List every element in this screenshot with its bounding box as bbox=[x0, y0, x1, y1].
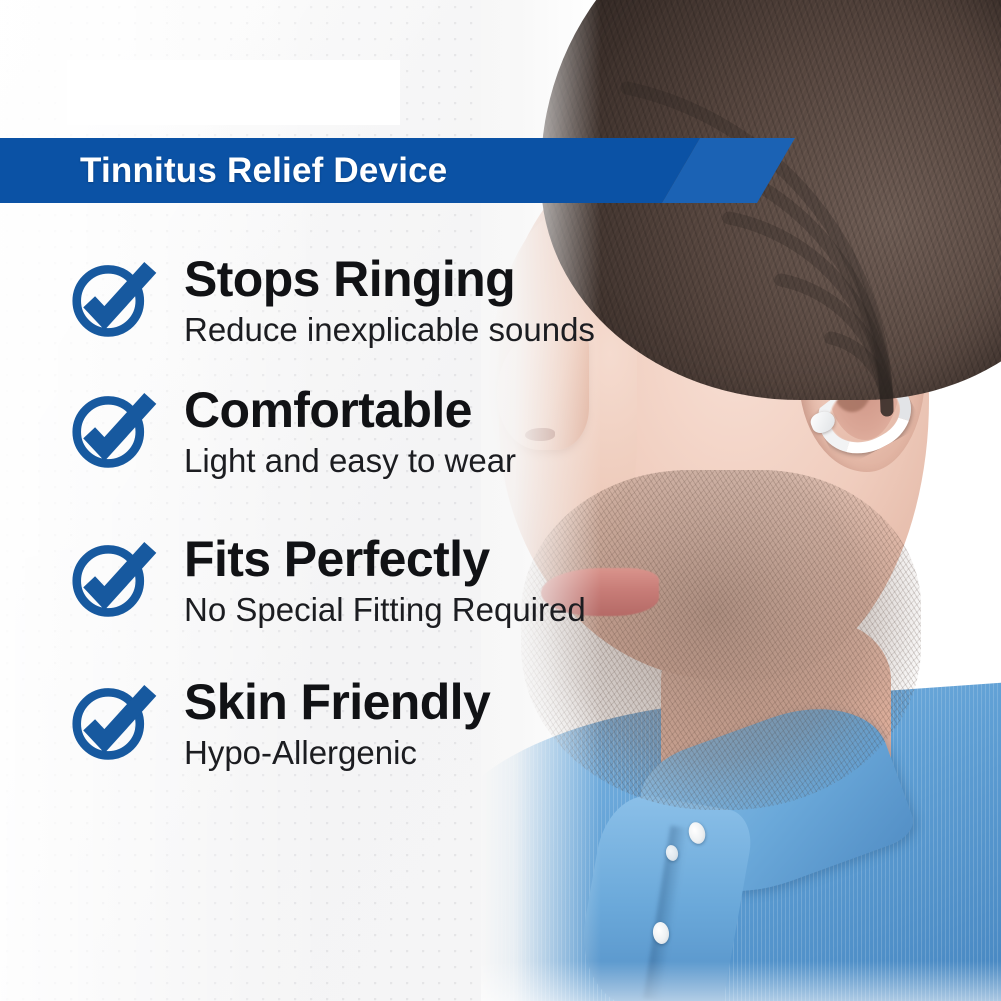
feature-item: Stops Ringing Reduce inexplicable sounds bbox=[0, 252, 700, 349]
feature-text: Comfortable Light and easy to wear bbox=[162, 383, 516, 480]
feature-item: Comfortable Light and easy to wear bbox=[0, 383, 700, 480]
feature-list: Stops Ringing Reduce inexplicable sounds… bbox=[0, 252, 700, 798]
logo-placeholder bbox=[67, 60, 400, 125]
check-circle-icon bbox=[66, 679, 162, 765]
feature-title: Stops Ringing bbox=[184, 254, 595, 304]
feature-subtitle: No Special Fitting Required bbox=[184, 592, 586, 629]
check-circle-icon bbox=[66, 387, 162, 473]
product-infographic: Tinnitus Relief Device Stops Ringing Red… bbox=[0, 0, 1001, 1001]
feature-title: Fits Perfectly bbox=[184, 534, 586, 584]
feature-title: Comfortable bbox=[184, 385, 516, 435]
feature-text: Fits Perfectly No Special Fitting Requir… bbox=[162, 532, 586, 629]
check-circle-icon bbox=[66, 536, 162, 622]
feature-text: Stops Ringing Reduce inexplicable sounds bbox=[162, 252, 595, 349]
feature-title: Skin Friendly bbox=[184, 677, 490, 727]
feature-subtitle: Hypo-Allergenic bbox=[184, 735, 490, 772]
feature-item: Fits Perfectly No Special Fitting Requir… bbox=[0, 532, 700, 629]
check-circle-icon bbox=[66, 256, 162, 342]
photo-bottom-blend bbox=[481, 961, 1001, 1001]
feature-text: Skin Friendly Hypo-Allergenic bbox=[162, 675, 490, 772]
feature-item: Skin Friendly Hypo-Allergenic bbox=[0, 675, 700, 772]
feature-subtitle: Light and easy to wear bbox=[184, 443, 516, 480]
feature-subtitle: Reduce inexplicable sounds bbox=[184, 312, 595, 349]
title-ribbon: Tinnitus Relief Device bbox=[0, 138, 795, 203]
page-title: Tinnitus Relief Device bbox=[80, 138, 447, 203]
